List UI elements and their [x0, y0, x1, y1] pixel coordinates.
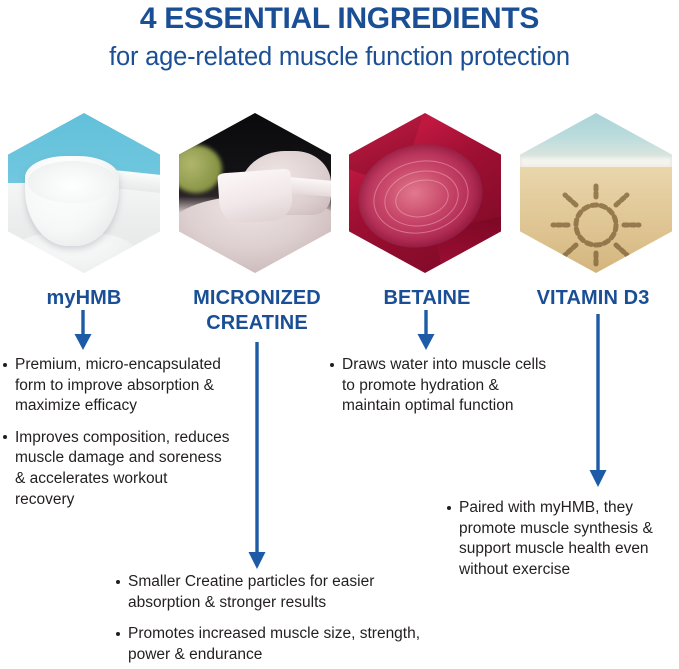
list-item: Improves composition, reduces muscle dam… — [2, 428, 230, 510]
bullet-list-micronized-creatine: Smaller Creatine particles for easier ab… — [115, 572, 445, 665]
ingredient-image-myhmb — [8, 113, 160, 273]
down-arrow-micronized-creatine — [237, 340, 277, 572]
sun-drawing-icon — [520, 113, 672, 273]
bullet-list-betaine: Draws water into muscle cells to promote… — [329, 355, 559, 417]
page-title: 4 ESSENTIAL INGREDIENTS — [0, 2, 679, 35]
list-item: Smaller Creatine particles for easier ab… — [115, 572, 445, 613]
ingredient-image-micronized-creatine — [179, 113, 331, 273]
list-item: Paired with myHMB, they promote muscle s… — [446, 498, 679, 580]
down-arrow-betaine — [406, 308, 446, 353]
page-subtitle: for age-related muscle function protecti… — [0, 43, 679, 71]
list-item: Draws water into muscle cells to promote… — [329, 355, 559, 417]
ingredient-image-betaine — [349, 113, 501, 273]
ingredient-image-vitamin-d3 — [520, 113, 672, 273]
list-item: Promotes increased muscle size, strength… — [115, 624, 445, 665]
ingredient-label-vitamin-d3: VITAMIN D3 — [508, 286, 678, 311]
ingredient-label-micronized-creatine: MICRONIZED CREATINE — [168, 286, 346, 336]
down-arrow-myhmb — [63, 308, 103, 353]
down-arrow-vitamin-d3 — [578, 312, 618, 490]
list-item: Premium, micro-encapsulated form to impr… — [2, 355, 230, 417]
bullet-list-vitamin-d3: Paired with myHMB, they promote muscle s… — [446, 498, 679, 580]
bullet-list-myhmb: Premium, micro-encapsulated form to impr… — [2, 355, 230, 510]
